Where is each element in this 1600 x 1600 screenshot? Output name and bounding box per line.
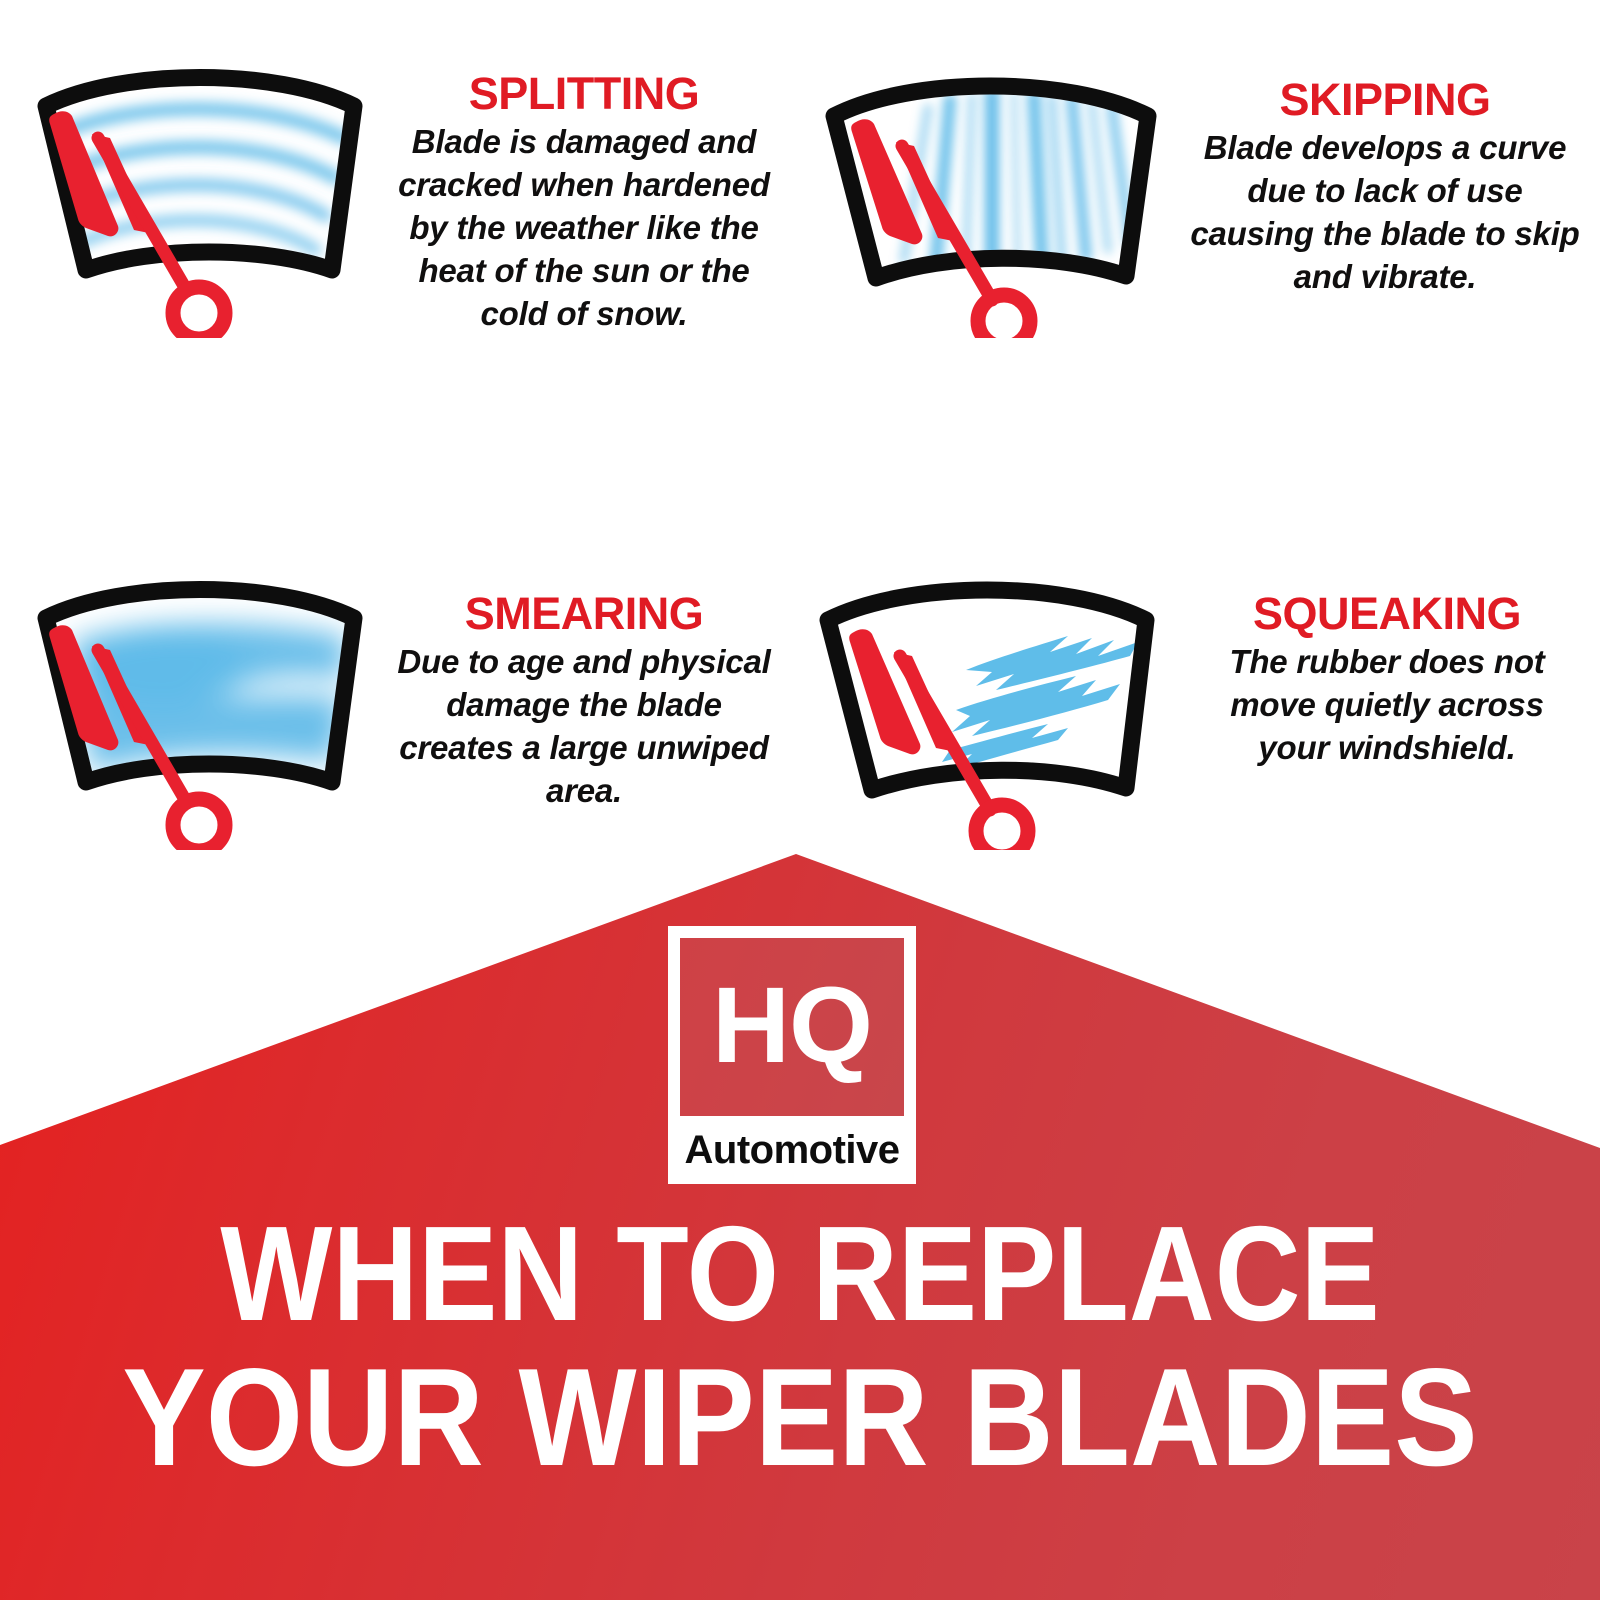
symptom-text-squeaking: SQUEAKING The rubber does not move quiet… xyxy=(1180,550,1590,770)
headline-line-1: WHEN TO REPLACE xyxy=(96,1208,1504,1340)
symptom-title-splitting: SPLITTING xyxy=(396,70,772,117)
wiper-blade-smearing-icon xyxy=(14,550,384,850)
symptom-text-splitting: SPLITTING Blade is damaged and cracked w… xyxy=(384,38,794,336)
headline-block: WHEN TO REPLACE YOUR WIPER BLADES xyxy=(0,1208,1600,1487)
infographic-canvas: SPLITTING Blade is damaged and cracked w… xyxy=(0,0,1600,1600)
logo-mark-text: HQ xyxy=(712,971,872,1079)
symptom-title-skipping: SKIPPING xyxy=(1190,76,1580,123)
symptom-text-skipping: SKIPPING Blade develops a curve due to l… xyxy=(1180,38,1590,299)
symptom-card-splitting: SPLITTING Blade is damaged and cracked w… xyxy=(14,38,794,338)
symptom-card-squeaking: SQUEAKING The rubber does not move quiet… xyxy=(800,550,1590,850)
symptom-title-squeaking: SQUEAKING xyxy=(1194,590,1580,637)
hq-automotive-logo: HQ Automotive xyxy=(668,926,916,1184)
symptom-description-splitting: Blade is damaged and cracked when harden… xyxy=(396,121,772,335)
symptom-title-smearing: SMEARING xyxy=(396,590,772,637)
wiper-blade-splitting-icon xyxy=(14,38,384,338)
headline-line-2: YOUR WIPER BLADES xyxy=(80,1350,1520,1486)
wiper-blade-skipping-icon xyxy=(800,38,1180,338)
symptom-description-smearing: Due to age and physical damage the blade… xyxy=(396,641,772,813)
logo-subtitle: Automotive xyxy=(668,1122,916,1178)
symptom-description-squeaking: The rubber does not move quietly across … xyxy=(1194,641,1580,770)
wiper-blade-squeaking-icon xyxy=(800,550,1180,850)
symptom-card-smearing: SMEARING Due to age and physical damage … xyxy=(14,550,794,850)
symptom-text-smearing: SMEARING Due to age and physical damage … xyxy=(384,550,794,813)
symptom-card-skipping: SKIPPING Blade develops a curve due to l… xyxy=(800,38,1590,338)
symptom-description-skipping: Blade develops a curve due to lack of us… xyxy=(1190,127,1580,299)
logo-mark-box: HQ xyxy=(680,938,904,1116)
